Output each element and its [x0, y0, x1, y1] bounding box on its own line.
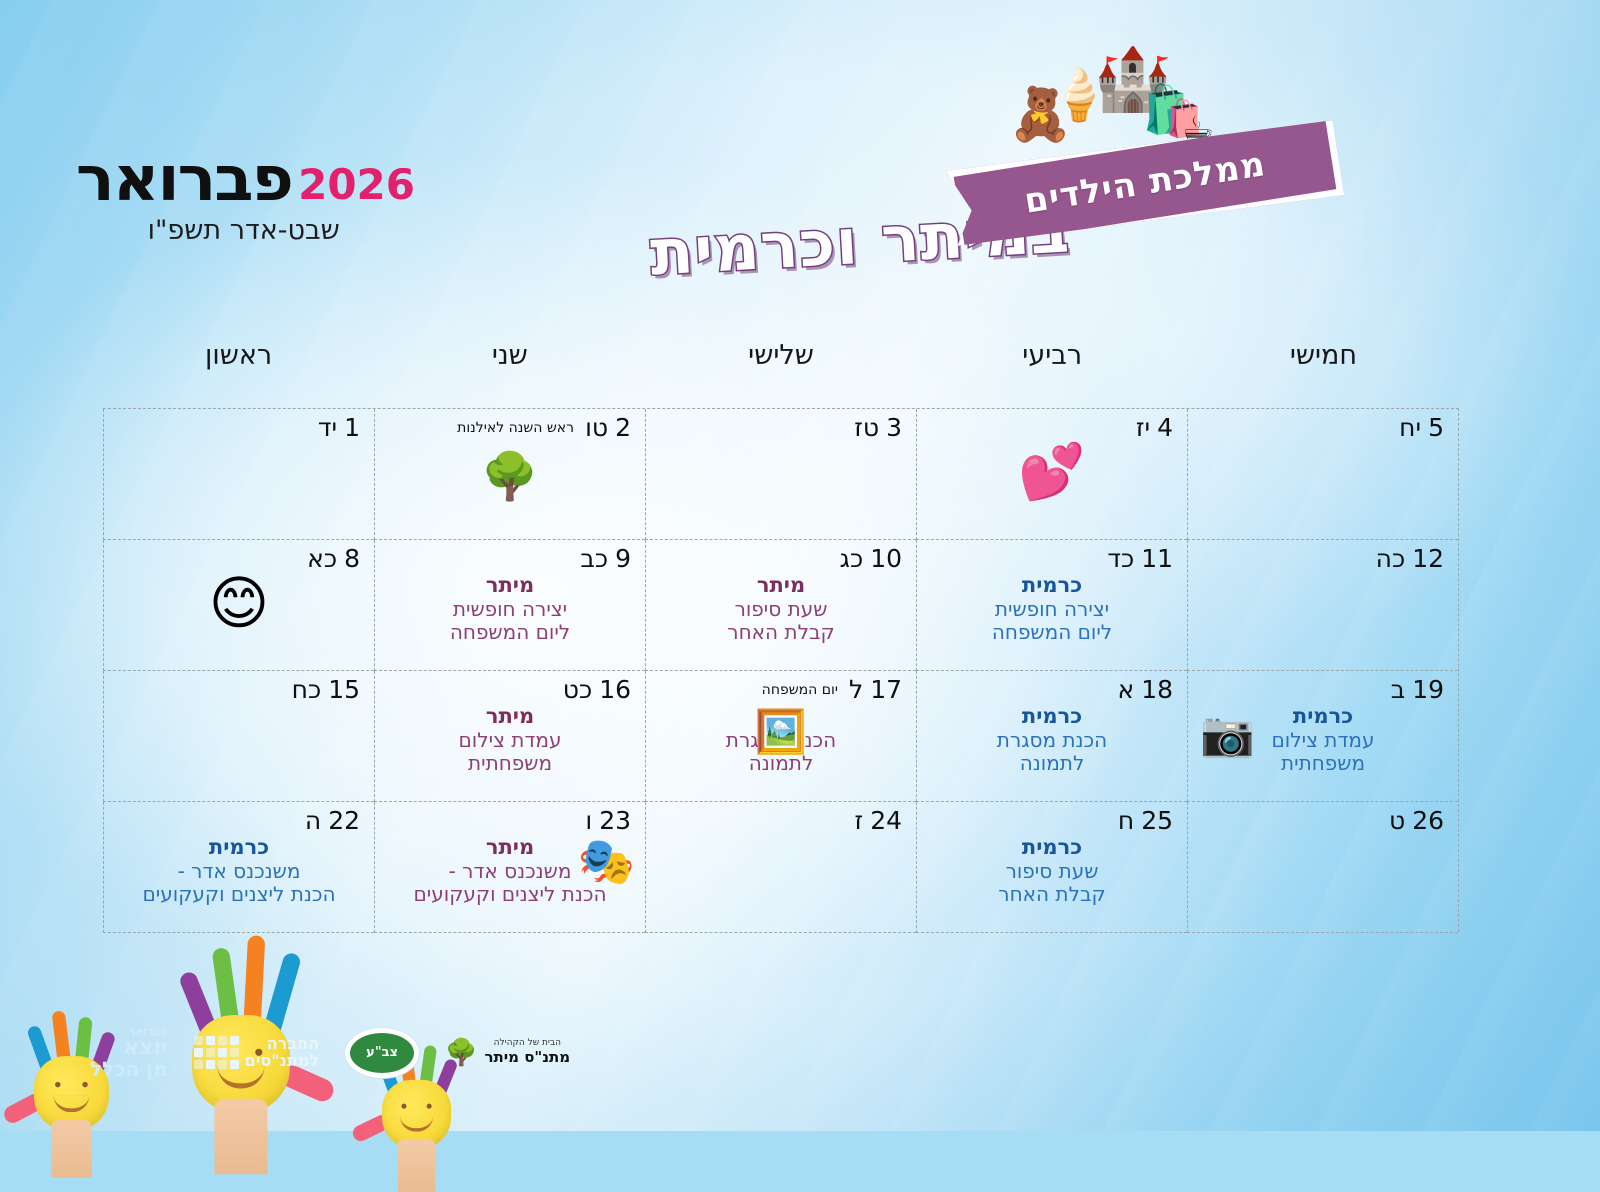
event-branch-name: כרמית — [931, 573, 1173, 598]
date-number: 5 — [1428, 415, 1444, 440]
calendar-day-cell: 1יד — [103, 409, 374, 540]
hebrew-date: כב — [580, 546, 608, 571]
date-line: 15כח — [118, 677, 360, 702]
hebrew-date: ט — [1389, 808, 1405, 833]
event-branch-name: כרמית — [931, 835, 1173, 860]
event-description: שעת סיפור — [660, 598, 902, 622]
logo-matnas-meitar: הבית של הקהילה מתנ"ס מיתר 🌳 — [445, 1038, 570, 1068]
hebrew-date: ב — [1391, 677, 1405, 702]
two-hearts-icon: 💕 — [1018, 445, 1085, 499]
weekday-wednesday: רביעי — [917, 340, 1188, 371]
date-number: 8 — [344, 546, 360, 571]
date-number: 25 — [1141, 808, 1173, 833]
logo-dots-icon — [194, 1036, 239, 1069]
calendar-day-cell: 25חכרמיתשעת סיפורקבלת האחר — [916, 802, 1187, 933]
event-branch-name: מיתר — [389, 704, 631, 729]
calendar-day-cell: 3טז — [645, 409, 916, 540]
calendar-day-cell: 19בכרמיתעמדת צילוםמשפחתית📷 — [1187, 671, 1458, 802]
hebrew-date: ח — [1118, 808, 1134, 833]
date-number: 4 — [1157, 415, 1173, 440]
event-block: מיתרעמדת צילוםמשפחתית — [389, 704, 631, 776]
date-line: 16כט — [389, 677, 631, 702]
event-description: ליום המשפחה — [931, 621, 1173, 645]
event-branch-name: כרמית — [931, 704, 1173, 729]
date-number: 9 — [615, 546, 631, 571]
hebrew-date: טז — [854, 415, 879, 440]
date-number: 18 — [1141, 677, 1173, 702]
event-branch-name: מיתר — [660, 573, 902, 598]
date-line: 18א — [931, 677, 1173, 702]
calendar-day-cell: 4יז💕 — [916, 409, 1187, 540]
hebrew-date: כה — [1376, 546, 1406, 571]
calendar-day-cell: 5יח — [1187, 409, 1458, 540]
hebrew-date: ו — [585, 808, 592, 833]
event-branch-name: מיתר — [389, 573, 631, 598]
calendar-day-cell: 11כדכרמיתיצירה חופשיתליום המשפחה — [916, 540, 1187, 671]
date-number: 10 — [870, 546, 902, 571]
date-number: 17 — [870, 677, 902, 702]
weekday-sunday: ראשון — [103, 340, 374, 371]
date-number: 2 — [615, 415, 631, 440]
date-line: 4יז — [931, 415, 1173, 440]
calendar-day-cell: 2טוראש השנה לאילנות🌳 — [374, 409, 645, 540]
date-line: 10כג — [660, 546, 902, 571]
hebrew-date: כג — [840, 546, 864, 571]
hebrew-date: יח — [1399, 415, 1421, 440]
month-name-label: פברואר — [76, 150, 292, 209]
date-number: 22 — [328, 808, 360, 833]
month-header: 2026 פברואר שבט-אדר תשפ"ו — [80, 150, 415, 246]
date-line: 25ח — [931, 808, 1173, 833]
hebrew-date: טו — [585, 415, 608, 440]
weekday-monday: שני — [374, 340, 645, 371]
hebrew-date: ז — [855, 808, 864, 833]
calendar-day-cell: 10כגמיתרשעת סיפורקבלת האחר — [645, 540, 916, 671]
camera-icon: 📷 — [1200, 713, 1255, 757]
date-line: 26ט — [1202, 808, 1444, 833]
calendar-day-cell: 16כטמיתרעמדת צילוםמשפחתית — [374, 671, 645, 802]
logo-hevra-lematnasim: החברה למתנ"סים — [194, 1036, 320, 1070]
date-number: 26 — [1412, 808, 1444, 833]
calendar-day-cell: 15כח — [103, 671, 374, 802]
hebrew-date: כא — [307, 546, 337, 571]
logo-hevra-line1: החברה — [245, 1036, 320, 1053]
hebrew-date: כד — [1107, 546, 1134, 571]
hebrew-date: יז — [1136, 415, 1150, 440]
carnival-mask-icon: 🎭 — [578, 838, 635, 884]
date-line: 24ז — [660, 808, 902, 833]
event-description: שעת סיפור — [931, 860, 1173, 884]
date-line: 5יח — [1202, 415, 1444, 440]
event-block: מיתרשעת סיפורקבלת האחר — [660, 573, 902, 645]
calendar-day-cell: 17ליום המשפחהמיתרהכנת מסגרתלתמונה🖼️ — [645, 671, 916, 802]
date-number: 23 — [599, 808, 631, 833]
hebrew-months-label: שבט-אדר תשפ"ו — [80, 215, 415, 246]
date-line: 2טוראש השנה לאילנות — [389, 415, 631, 440]
date-line: 3טז — [660, 415, 902, 440]
date-number: 24 — [870, 808, 902, 833]
date-line: 11כד — [931, 546, 1173, 571]
event-block: כרמיתשעת סיפורקבלת האחר — [931, 835, 1173, 907]
calendar-day-cell: 8כא😊 — [103, 540, 374, 671]
hebrew-date: א — [1117, 677, 1134, 702]
weekday-header-row: חמישי רביעי שלישי שני ראשון — [103, 340, 1459, 371]
smiley-faces-icon: 😊 — [209, 574, 269, 632]
date-number: 15 — [328, 677, 360, 702]
holiday-note: יום המשפחה — [762, 683, 838, 697]
logo-matnas-name: מתנ"ס מיתר — [484, 1049, 570, 1066]
calendar-day-cell: 24ז — [645, 802, 916, 933]
year-label: 2026 — [298, 164, 415, 209]
date-number: 11 — [1141, 546, 1173, 571]
date-line: 12כה — [1202, 546, 1444, 571]
logo-hevra-line2: למתנ"סים — [245, 1053, 320, 1070]
date-line: 17ליום המשפחה — [660, 677, 902, 702]
event-block: כרמיתהכנת מסגרתלתמונה — [931, 704, 1173, 776]
painted-hands-decoration — [10, 831, 550, 1131]
date-line: 1יד — [118, 415, 360, 440]
event-block: כרמיתיצירה חופשיתליום המשפחה — [931, 573, 1173, 645]
date-line: 8כא — [118, 546, 360, 571]
hebrew-date: כח — [292, 677, 322, 702]
date-line: 23ו — [389, 808, 631, 833]
event-description: יצירה חופשית — [389, 598, 631, 622]
event-block: מיתריצירה חופשיתליום המשפחה — [389, 573, 631, 645]
date-line: 9כב — [389, 546, 631, 571]
date-line: 22ה — [118, 808, 360, 833]
hebrew-date: ל — [849, 677, 863, 702]
hebrew-date: ה — [305, 808, 321, 833]
date-number: 12 — [1412, 546, 1444, 571]
logo-tree-icon: 🌳 — [445, 1038, 477, 1068]
event-description: יצירה חופשית — [931, 598, 1173, 622]
logo-feb-line2: יוצא — [90, 1037, 168, 1059]
event-description: משפחתית — [389, 752, 631, 776]
holiday-note: ראש השנה לאילנות — [457, 421, 574, 435]
event-description: ליום המשפחה — [389, 621, 631, 645]
date-line: 19ב — [1202, 677, 1444, 702]
calendar-day-cell: 12כה — [1187, 540, 1458, 671]
footer-logos: הבית של הקהילה מתנ"ס מיתר 🌳 צב"ע החברה ל… — [90, 1026, 570, 1079]
logo-zava: צב"ע — [345, 1028, 419, 1078]
date-number: 16 — [599, 677, 631, 702]
logo-feb-line3: מן הכלל — [90, 1059, 168, 1079]
hebrew-date: כט — [563, 677, 592, 702]
event-description: קבלת האחר — [931, 883, 1173, 907]
logo-february-special: פברואר יוצא מן הכלל — [90, 1026, 168, 1079]
event-description: עמדת צילום — [389, 729, 631, 753]
event-description: לתמונה — [931, 752, 1173, 776]
framed-photo-icon: 🖼️ — [755, 711, 807, 753]
event-description: הכנת מסגרת — [931, 729, 1173, 753]
date-number: 19 — [1412, 677, 1444, 702]
tree-icon: 🌳 — [481, 453, 538, 499]
calendar-day-cell: 26ט — [1187, 802, 1458, 933]
date-number: 3 — [886, 415, 902, 440]
event-description: קבלת האחר — [660, 621, 902, 645]
hebrew-date: יד — [318, 415, 337, 440]
date-number: 1 — [344, 415, 360, 440]
logo-zava-label: צב"ע — [350, 1033, 414, 1073]
calendar-day-cell: 9כבמיתריצירה חופשיתליום המשפחה — [374, 540, 645, 671]
kingdom-banner: 🧸 🍦 🏰 🛍️ ☕ ממלכת הילדים — [950, 110, 1350, 310]
weekday-thursday: חמישי — [1188, 340, 1459, 371]
calendar-day-cell: 18אכרמיתהכנת מסגרתלתמונה — [916, 671, 1187, 802]
painted-hand — [382, 1080, 451, 1149]
weekday-tuesday: שלישי — [645, 340, 916, 371]
